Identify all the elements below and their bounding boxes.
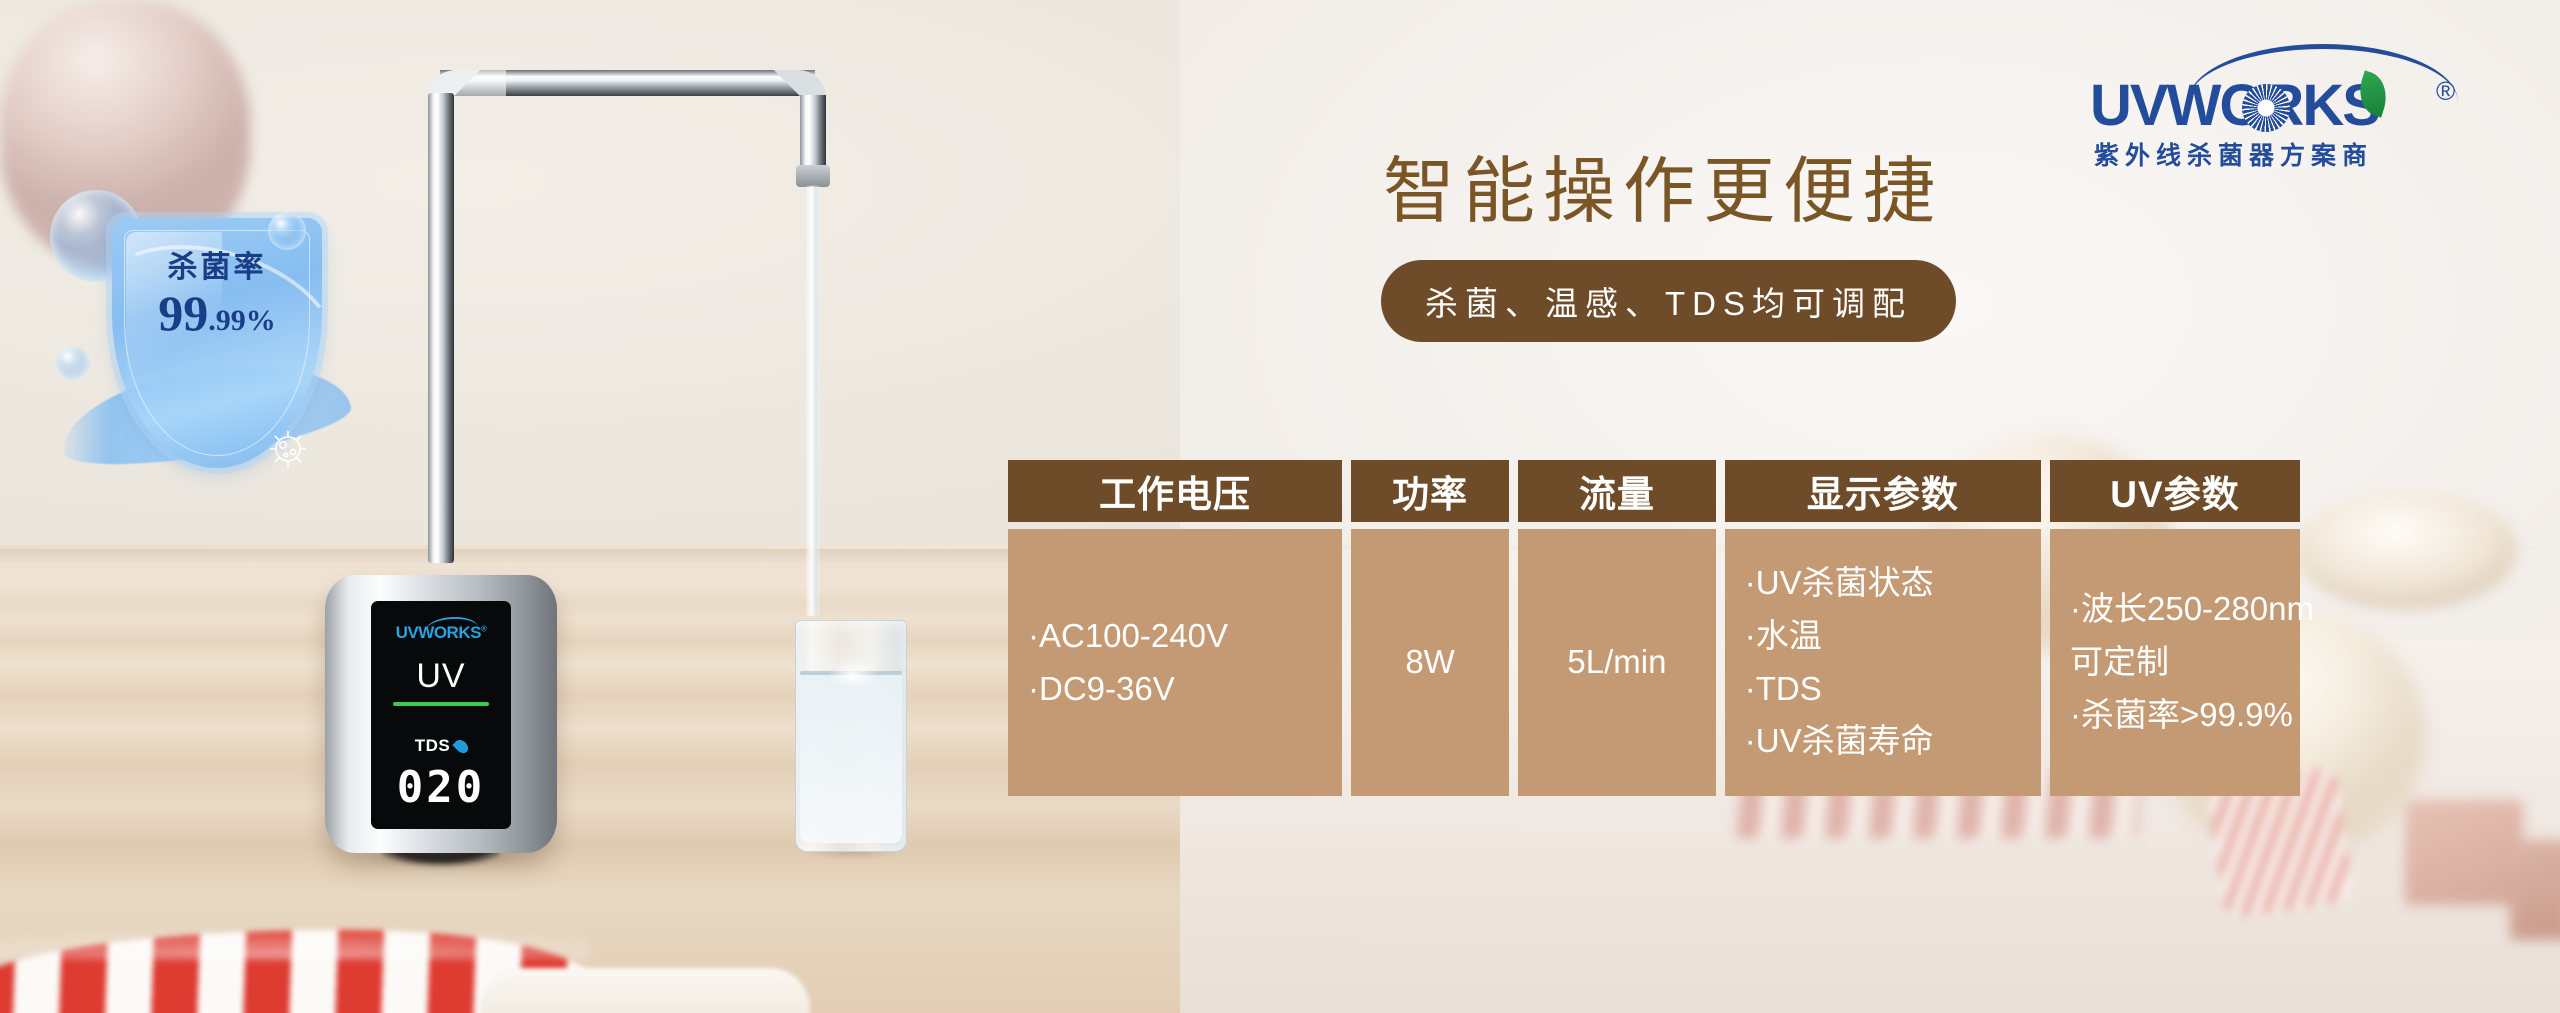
basket-yarn-icon xyxy=(2295,490,2517,610)
brand-logo: UVWORKS ® 紫外线杀菌器方案商 xyxy=(2090,40,2490,170)
plate xyxy=(480,968,810,1013)
water-splash-icon xyxy=(818,645,888,685)
spec-header-power: 功率 xyxy=(1351,460,1509,522)
badge-text-group: 杀菌率 99.99% xyxy=(112,242,322,338)
screen-status-bar xyxy=(393,702,489,706)
spec-line: ·DC9-36V xyxy=(1028,663,1342,716)
sterilization-rate-badge: 杀菌率 99.99% xyxy=(50,190,370,520)
screen-tds-value: 020 xyxy=(397,766,485,810)
spec-header-flow: 流量 xyxy=(1518,460,1716,522)
cloth-fold-highlight xyxy=(0,925,590,959)
spec-body-voltage: ·AC100-240V ·DC9-36V xyxy=(1008,529,1342,796)
sunburst-rays-icon xyxy=(2242,84,2290,132)
water-drop-icon xyxy=(453,737,471,755)
spec-line: 5L/min xyxy=(1567,636,1666,689)
faucet-spout-tip xyxy=(796,165,830,187)
spec-header-uv: UV参数 xyxy=(2050,460,2300,522)
spec-line: ·杀菌率>99.9% xyxy=(2070,689,2300,742)
spec-line: ·AC100-240V xyxy=(1028,610,1342,663)
spec-header-voltage: 工作电压 xyxy=(1008,460,1342,522)
registered-mark: ® xyxy=(2436,76,2455,107)
spec-body-display: ·UV杀菌状态 ·水温 ·TDS ·UV杀菌寿命 xyxy=(1725,529,2041,796)
badge-value-major: 99 xyxy=(158,285,208,341)
pink-block xyxy=(2405,800,2523,905)
spec-column-uv: UV参数 ·波长250-280nm 可定制 ·杀菌率>99.9% xyxy=(2050,460,2300,796)
spec-column-voltage: 工作电压 ·AC100-240V ·DC9-36V xyxy=(1008,460,1342,796)
spec-line: ·TDS xyxy=(1745,663,2041,716)
spec-body-uv: ·波长250-280nm 可定制 ·杀菌率>99.9% xyxy=(2050,529,2300,796)
spec-table: 工作电压 ·AC100-240V ·DC9-36V 功率 8W 流量 5L/mi… xyxy=(1008,460,2300,796)
spec-line: 可定制 xyxy=(2070,636,2300,689)
spec-column-display: 显示参数 ·UV杀菌状态 ·水温 ·TDS ·UV杀菌寿命 xyxy=(1725,460,2041,796)
badge-value-minor: .99% xyxy=(208,304,276,337)
spec-body-power: 8W xyxy=(1351,529,1509,796)
spec-line: ·波长250-280nm xyxy=(2070,583,2300,636)
screen-tds-label: TDS xyxy=(415,736,451,756)
spec-column-flow: 流量 5L/min xyxy=(1518,460,1716,796)
device-screen: UVWORKS® UV TDS 020 xyxy=(371,601,511,829)
glass-water-fill xyxy=(800,673,902,843)
bubble-icon xyxy=(268,212,306,250)
bubble-icon-small xyxy=(56,346,90,380)
water-glass xyxy=(795,620,907,852)
spec-header-display: 显示参数 xyxy=(1725,460,2041,522)
screen-brand-logo: UVWORKS® xyxy=(396,623,487,643)
spec-body-flow: 5L/min xyxy=(1518,529,1716,796)
spec-line: 8W xyxy=(1405,636,1455,689)
product-banner: UVWORKS® UV TDS 020 杀菌率 99.99% xyxy=(0,0,2560,1013)
spec-line: ·UV杀菌寿命 xyxy=(1745,715,2041,768)
uv-sterilizer-device: UVWORKS® UV TDS 020 xyxy=(325,575,557,853)
germ-icon xyxy=(264,428,312,470)
badge-value: 99.99% xyxy=(112,288,322,338)
faucet-spout-stem xyxy=(800,95,826,173)
feature-pill: 杀菌、温感、TDS均可调配 xyxy=(1381,260,1956,342)
spec-column-power: 功率 8W xyxy=(1351,460,1509,796)
screen-mode-label: UV xyxy=(416,659,465,693)
spec-line: ·水温 xyxy=(1745,610,2041,663)
page-title: 智能操作更便捷 xyxy=(1383,132,2003,237)
logo-subtitle: 紫外线杀菌器方案商 xyxy=(2094,136,2373,172)
counter-shadow xyxy=(0,549,1180,565)
screen-logo-registered: ® xyxy=(481,624,486,633)
spec-line: ·UV杀菌状态 xyxy=(1745,557,2041,610)
water-stream xyxy=(806,186,820,616)
pink-block-secondary xyxy=(2510,840,2560,940)
screen-tds-row: TDS xyxy=(415,736,468,756)
faucet-stem xyxy=(428,93,454,563)
